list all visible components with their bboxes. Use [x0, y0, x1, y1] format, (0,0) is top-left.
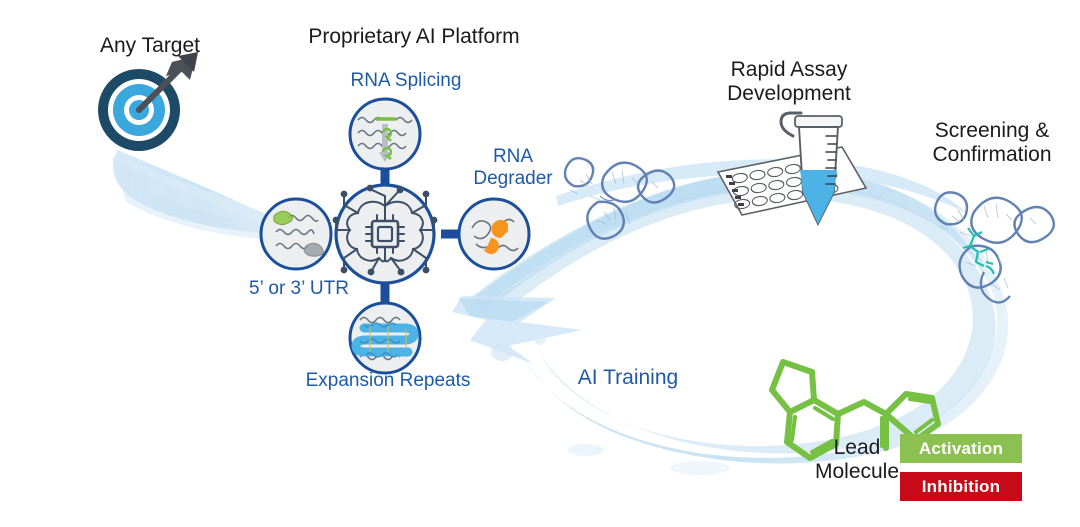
- stage-label-ai-training: AI Training: [578, 366, 678, 390]
- legend-inhibition-label: Inhibition: [922, 477, 1000, 497]
- target-icon: [98, 52, 198, 151]
- node-label-rna-splicing: RNA Splicing: [351, 70, 462, 92]
- ai-core-node: [333, 185, 438, 283]
- legend-inhibition: Inhibition: [900, 472, 1022, 501]
- stage-label-any-target: Any Target: [100, 34, 200, 58]
- diagram-canvas: Any Target Proprietary AI Platform RNA S…: [0, 0, 1080, 527]
- stage-label-rapid-assay: Rapid Assay Development: [727, 58, 851, 107]
- expansion-repeats-node: [350, 303, 420, 373]
- assay-icon: [718, 113, 866, 224]
- rna-degrader-node: [459, 199, 529, 269]
- stage-label-screening: Screening & Confirmation: [932, 119, 1051, 168]
- page-title: Proprietary AI Platform: [308, 25, 519, 49]
- rna-splicing-node: [350, 99, 420, 169]
- legend-activation: Activation: [900, 434, 1022, 463]
- node-label-expansion-repeats: Expansion Repeats: [306, 370, 471, 392]
- swoosh-loop: [452, 170, 1008, 475]
- utr-node: [261, 199, 331, 269]
- stage-label-lead-molecule: Lead Molecule: [815, 436, 899, 485]
- node-label-rna-degrader: RNA Degrader: [473, 146, 552, 190]
- node-label-utr: 5’ or 3’ UTR: [249, 278, 349, 300]
- legend-activation-label: Activation: [919, 439, 1003, 459]
